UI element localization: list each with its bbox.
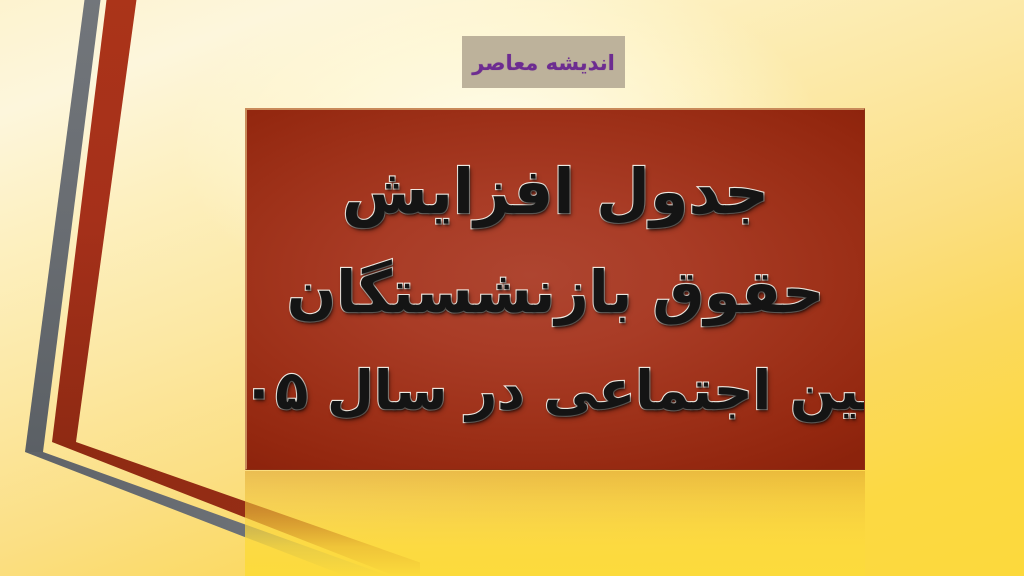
title-line-3: تامین اجتماعی در سال ۱۴۰۵	[245, 363, 865, 420]
gray-chevron-stripe-lower	[25, 452, 400, 576]
brand-badge: اندیشه معاصر	[462, 36, 625, 88]
title-reflection: تامین اجتماعی در سال ۱۴۰۵	[245, 471, 865, 576]
brand-label: اندیشه معاصر	[472, 53, 615, 74]
gray-chevron-stripe-upper	[25, 0, 101, 452]
title-line-2: حقوق بازنشستگان	[287, 262, 824, 323]
red-chevron-stripe-upper	[52, 0, 137, 442]
title-reflection-fade	[245, 471, 865, 576]
title-panel: جدول افزایش حقوق بازنشستگان تامین اجتماع…	[245, 108, 865, 470]
title-line-1: جدول افزایش	[342, 159, 769, 224]
slide-canvas: اندیشه معاصر جدول افزایش حقوق بازنشستگان…	[0, 0, 1024, 576]
